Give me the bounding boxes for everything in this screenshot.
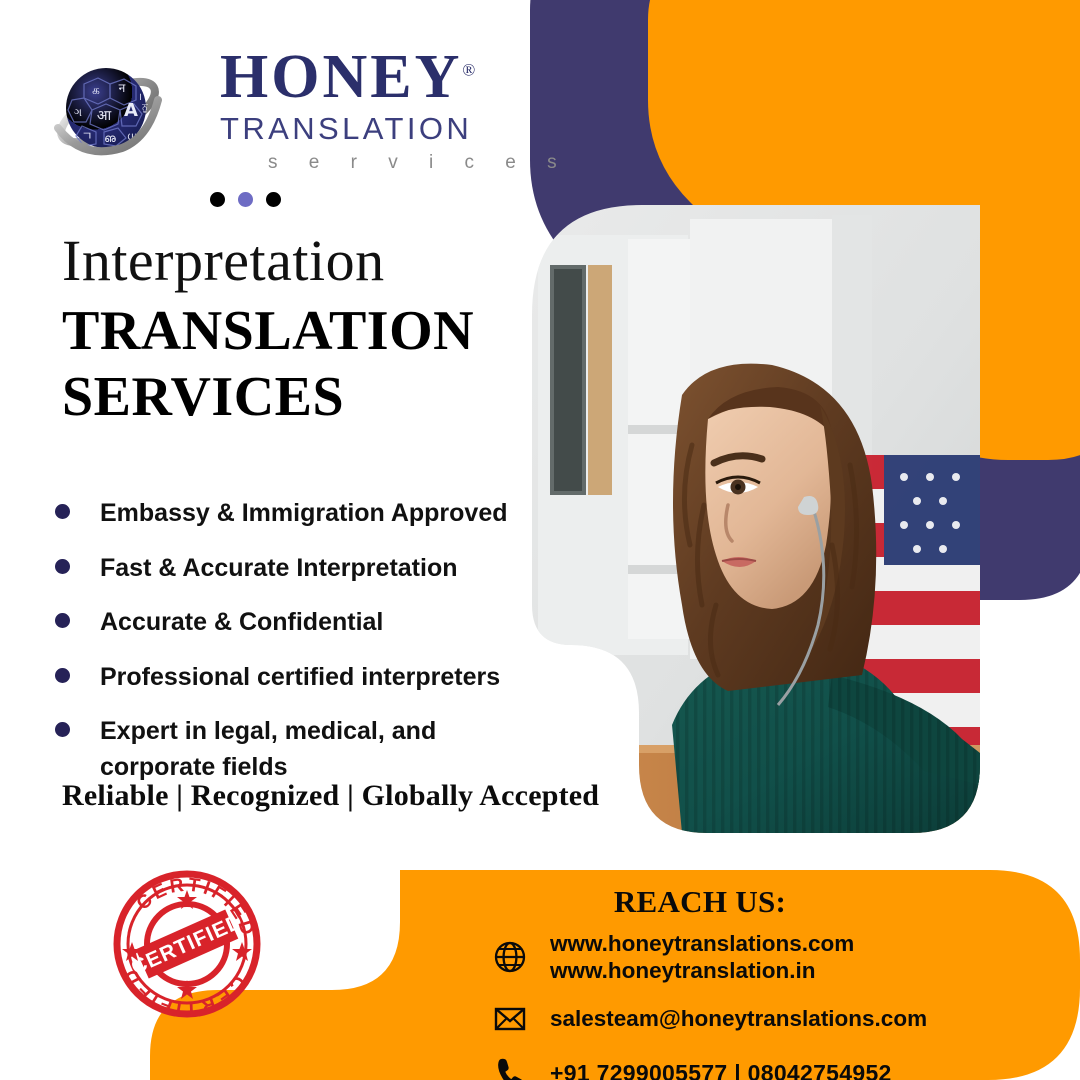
bullet-dot-icon <box>55 559 70 574</box>
dot-purple-middle <box>238 192 253 207</box>
headline-main: TRANSLATION SERVICES <box>62 298 532 430</box>
list-item-label: Accurate & Confidential <box>100 605 383 641</box>
svg-text:ㄱ: ㄱ <box>81 129 92 143</box>
website-2[interactable]: www.honeytranslation.in <box>550 958 815 983</box>
list-item-label: Expert in legal, medical, and corporate … <box>100 714 460 785</box>
svg-text:ഌ: ഌ <box>104 132 116 145</box>
certified-stamp: CERTIFIED CERTIFIED CERTIFIED <box>108 868 266 1020</box>
list-item: Expert in legal, medical, and corporate … <box>55 714 555 785</box>
headline-line-2: SERVICES <box>62 364 532 430</box>
registered-mark: ® <box>462 60 475 79</box>
brand-logo: க न । ગ आ A ਨੂ ㄱ ഌ ധ HONEY® TRANSLATION … <box>52 48 472 173</box>
contact-block: REACH US: www.honeytranslations.com www.… <box>420 872 1040 1078</box>
phone-numbers[interactable]: +91 7299005577 | 08042754952 <box>550 1059 892 1080</box>
logo-name-tertiary: s e r v i c e s <box>220 152 470 174</box>
bullet-dot-icon <box>55 668 70 683</box>
bullet-dot-icon <box>55 613 70 628</box>
globe-languages-icon: க न । ગ आ A ਨੂ ㄱ ഌ ധ <box>52 56 164 164</box>
hero-photo <box>532 205 980 833</box>
list-item: Accurate & Confidential <box>55 605 555 641</box>
logo-name-secondary: TRANSLATION <box>220 111 470 147</box>
contact-row-website[interactable]: www.honeytranslations.com www.honeytrans… <box>420 930 1040 985</box>
page-title: Interpretation TRANSLATION SERVICES <box>62 232 532 430</box>
svg-text:க: க <box>92 83 100 97</box>
contact-row-phone[interactable]: +91 7299005577 | 08042754952 <box>420 1053 1040 1080</box>
list-item: Professional certified interpreters <box>55 660 555 696</box>
svg-text:।: । <box>138 92 142 103</box>
email-address[interactable]: salesteam@honeytranslations.com <box>550 1005 927 1032</box>
list-item-label: Embassy & Immigration Approved <box>100 496 508 532</box>
bullet-dot-icon <box>55 722 70 737</box>
dot-black-right <box>266 192 281 207</box>
headline-line-1: TRANSLATION <box>62 298 532 364</box>
list-item: Fast & Accurate Interpretation <box>55 551 555 587</box>
list-item-label: Professional certified interpreters <box>100 660 500 696</box>
logo-name-primary: HONEY® <box>220 48 470 107</box>
website-links[interactable]: www.honeytranslations.com www.honeytrans… <box>550 930 854 985</box>
list-item-label: Fast & Accurate Interpretation <box>100 551 457 587</box>
contact-heading: REACH US: <box>420 884 980 920</box>
poster-canvas: க न । ગ आ A ਨੂ ㄱ ഌ ധ HONEY® TRANSLATION … <box>0 0 1080 1080</box>
dot-black-left <box>210 192 225 207</box>
svg-text:ਨੂ: ਨੂ <box>141 103 148 113</box>
svg-text:न: न <box>119 81 126 95</box>
bullet-dot-icon <box>55 504 70 519</box>
logo-wordmark: HONEY® TRANSLATION s e r v i c e s <box>220 48 470 174</box>
phone-icon <box>490 1053 530 1080</box>
globe-icon <box>490 937 530 977</box>
svg-text:ગ: ગ <box>74 106 82 119</box>
svg-text:A: A <box>124 100 138 121</box>
svg-text:आ: आ <box>97 108 112 124</box>
website-1[interactable]: www.honeytranslations.com <box>550 931 854 956</box>
headline-script: Interpretation <box>62 232 532 290</box>
list-item: Embassy & Immigration Approved <box>55 496 555 532</box>
tagline: Reliable | Recognized | Globally Accepte… <box>62 779 599 813</box>
feature-list: Embassy & Immigration Approved Fast & Ac… <box>55 496 555 804</box>
envelope-icon <box>490 999 530 1039</box>
dot-separator <box>210 192 281 207</box>
contact-row-email[interactable]: salesteam@honeytranslations.com <box>420 999 1040 1039</box>
